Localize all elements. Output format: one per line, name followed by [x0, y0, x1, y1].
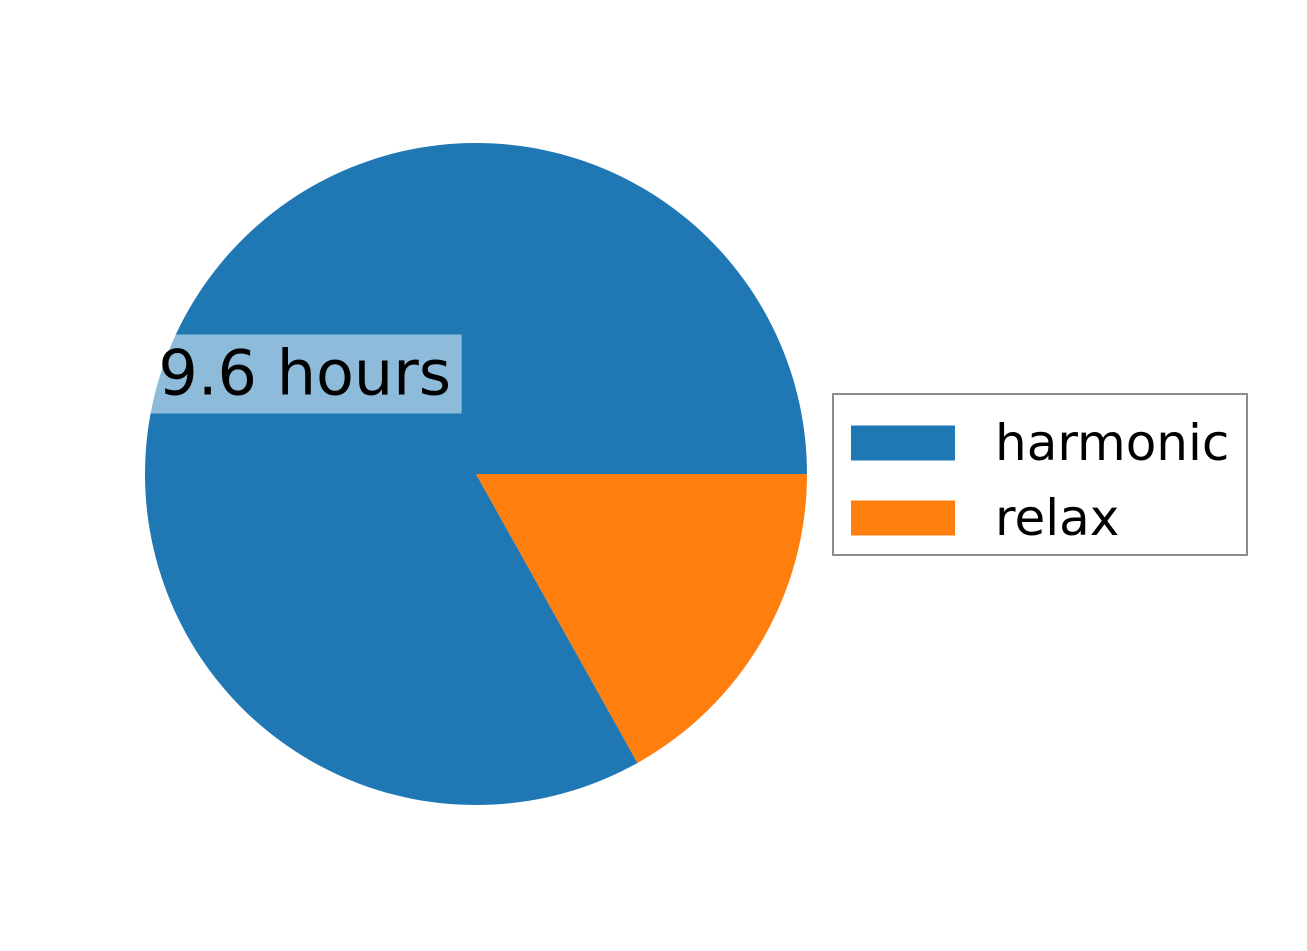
wedge-label-harmonic: 9.6 hours — [147, 334, 462, 413]
legend-box: harmonic relax — [832, 393, 1248, 556]
pie-chart-svg — [145, 143, 807, 805]
pie-chart-axes: 9.6 hours — [145, 143, 807, 805]
legend-item-harmonic[interactable]: harmonic — [834, 410, 1246, 476]
legend-swatch-harmonic — [851, 426, 955, 461]
legend-item-relax[interactable]: relax — [834, 485, 1246, 551]
figure-canvas: 9.6 hours harmonic relax — [0, 0, 1307, 951]
legend-label-harmonic: harmonic — [995, 418, 1229, 468]
legend-swatch-relax — [851, 501, 955, 536]
legend-label-relax: relax — [995, 493, 1119, 543]
